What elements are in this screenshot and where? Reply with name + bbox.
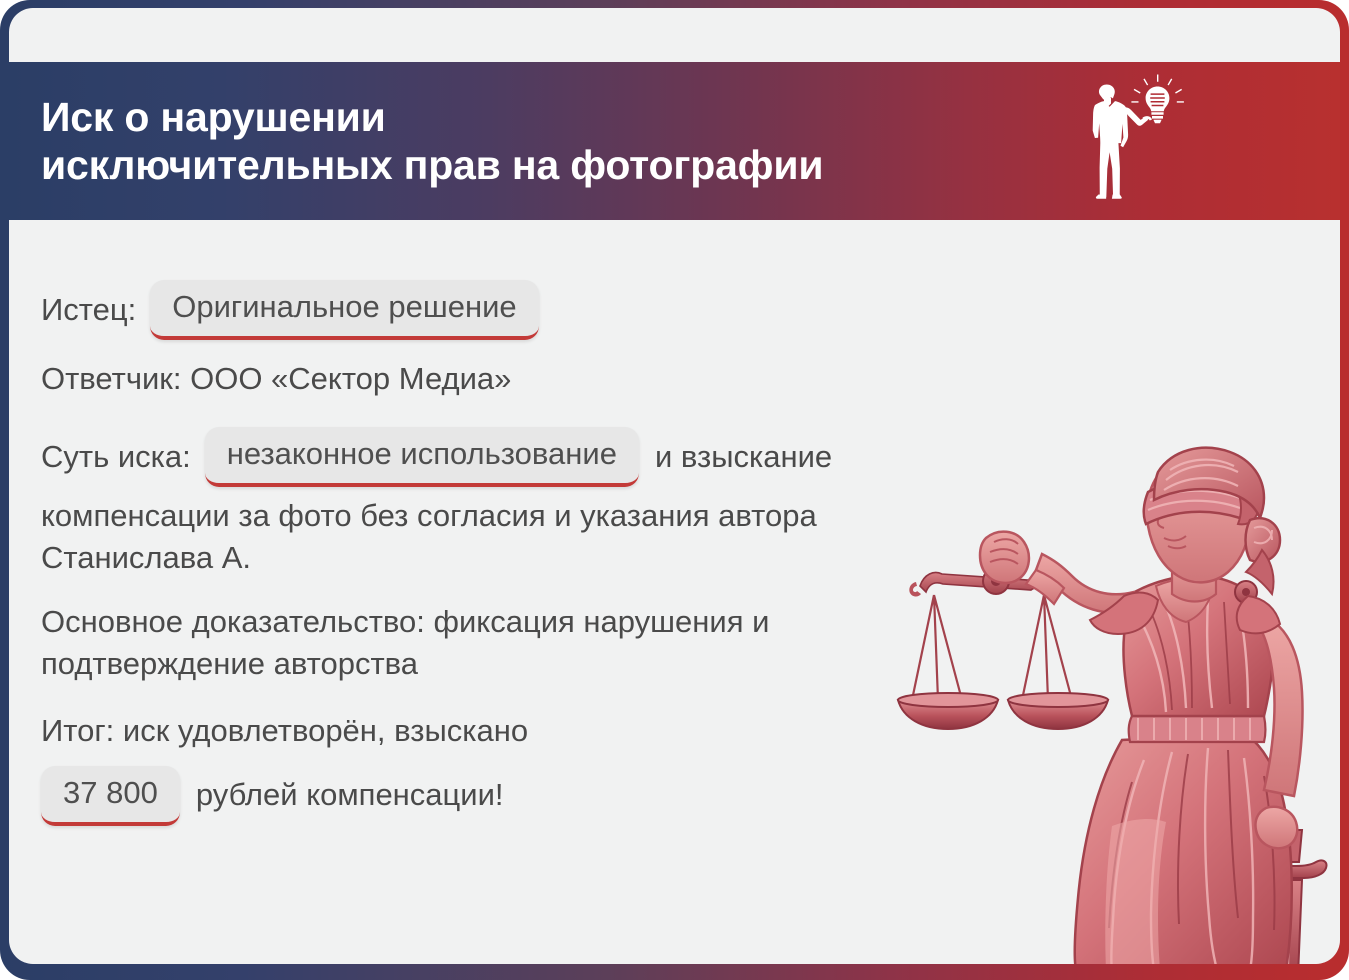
- plaintiff-value-chip[interactable]: Оригинальное решение: [150, 280, 538, 340]
- card-body: Истец: Оригинальное решение Ответчик: ОО…: [9, 220, 1340, 964]
- plaintiff-label: Истец:: [41, 293, 136, 328]
- man-with-lightbulb-icon: [1073, 72, 1193, 212]
- plaintiff-row: Истец: Оригинальное решение: [41, 280, 1061, 340]
- info-card: Иск о нарушении исключительных прав на ф…: [9, 8, 1340, 964]
- card-header: Иск о нарушении исключительных прав на ф…: [9, 62, 1340, 220]
- amount-row: 37 800 рублей компенсации!: [41, 766, 1061, 826]
- claim-after-chip-text: и взыскание: [655, 440, 832, 475]
- defendant-text: Ответчик: ООО «Сектор Медиа»: [41, 362, 511, 397]
- page-title: Иск о нарушении исключительных прав на ф…: [41, 93, 823, 190]
- evidence-text: Основное доказательство: фиксация наруше…: [41, 601, 921, 685]
- info-card-frame: Иск о нарушении исключительных прав на ф…: [0, 0, 1349, 980]
- defendant-row: Ответчик: ООО «Сектор Медиа»: [41, 362, 1061, 397]
- result-text: Итог: иск удовлетворён, взыскано: [41, 710, 921, 752]
- claim-label: Суть иска:: [41, 440, 191, 475]
- page-title-line-2: исключительных прав на фотографии: [41, 141, 823, 189]
- compensation-amount-chip[interactable]: 37 800: [41, 766, 180, 826]
- page-title-line-1: Иск о нарушении: [41, 93, 823, 141]
- claim-value-chip[interactable]: незаконное использование: [205, 427, 639, 487]
- claim-row: Суть иска: незаконное использование и вз…: [41, 427, 1061, 487]
- claim-continuation-text: компенсации за фото без согласия и указа…: [41, 495, 921, 579]
- case-summary: Истец: Оригинальное решение Ответчик: ОО…: [41, 280, 1061, 840]
- amount-suffix-text: рублей компенсации!: [196, 778, 504, 813]
